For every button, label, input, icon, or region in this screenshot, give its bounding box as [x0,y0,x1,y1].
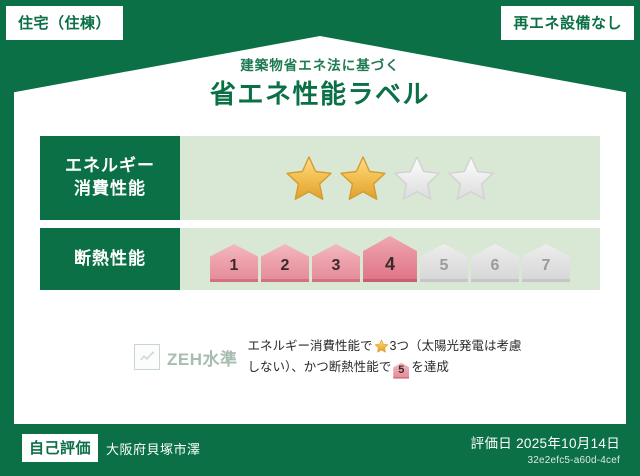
renewable-energy-badge: 再エネ設備なし [501,6,634,40]
zeh-desc-part4: を達成 [411,360,449,374]
insulation-grade-7: 7 [522,244,570,282]
energy-performance-value [180,136,600,220]
inline-star-icon [374,339,389,353]
title-subtitle: 建築物省エネ法に基づく [14,58,626,74]
star-empty-icon [446,154,496,202]
label-content-area: 建築物省エネ法に基づく 省エネ性能ラベル エネルギー 消費性能 [14,36,626,424]
title-block: 建築物省エネ法に基づく 省エネ性能ラベル [14,58,626,110]
building-type-badge: 住宅（住棟） [6,6,123,40]
inline-grade-badge: 5 [393,363,409,379]
insulation-performance-value: 1 2 3 4 5 6 7 [180,228,600,290]
zeh-desc-part2: 3つ（太陽光発電 [390,339,484,353]
zeh-badge: ZEH水準 [134,344,238,370]
star-rating [284,154,496,202]
evaluation-type-badge: 自己評価 [22,434,98,462]
insulation-grade-5: 5 [420,244,468,282]
energy-label-line1: エネルギー [65,155,155,178]
evaluation-date-label: 評価日 [471,436,512,451]
location-text: 大阪府貝塚市澤 [106,439,201,458]
evaluation-id: 32e2efc5-a60d-4cef [471,455,620,466]
zeh-label: ZEH水準 [167,345,238,370]
zeh-check-icon [134,344,160,370]
insulation-label-line1: 断熱性能 [74,248,146,271]
insulation-performance-row: 断熱性能 1 2 3 4 5 6 7 [40,228,600,290]
zeh-glyph-icon [139,350,155,364]
performance-rows: エネルギー 消費性能 [40,136,600,298]
star-filled-icon [338,154,388,202]
energy-performance-label-card: 住宅（住棟） 再エネ設備なし 建築物省エネ法に基づく 省エネ性能ラベル エネルギ… [0,0,640,476]
evaluation-date-value: 2025年10月14日 [516,436,620,451]
insulation-grade-4-achieved: 4 [363,236,417,282]
star-empty-icon [392,154,442,202]
evaluation-date: 評価日 2025年10月14日 [471,432,620,452]
footer-left-group: 自己評価 大阪府貝塚市澤 [22,434,201,462]
zeh-standard-note: ZEH水準 エネルギー消費性能で3つ（太陽光発電は考慮しない）、かつ断熱性能で5… [134,336,533,379]
energy-performance-row: エネルギー 消費性能 [40,136,600,220]
insulation-performance-label: 断熱性能 [40,228,180,290]
insulation-grade-scale: 1 2 3 4 5 6 7 [210,236,570,282]
label-footer: 自己評価 大阪府貝塚市澤 評価日 2025年10月14日 32e2efc5-a6… [0,424,640,476]
zeh-desc-part1: エネルギー消費性能で [248,339,373,353]
insulation-grade-3: 3 [312,244,360,282]
insulation-grade-6: 6 [471,244,519,282]
footer-right-group: 評価日 2025年10月14日 32e2efc5-a60d-4cef [471,432,620,466]
insulation-grade-1: 1 [210,244,258,282]
zeh-description: エネルギー消費性能で3つ（太陽光発電は考慮しない）、かつ断熱性能で5を達成 [248,336,533,379]
star-filled-icon [284,154,334,202]
insulation-grade-2: 2 [261,244,309,282]
energy-performance-label: エネルギー 消費性能 [40,136,180,220]
energy-label-line2: 消費性能 [74,178,146,201]
page-title: 省エネ性能ラベル [14,79,626,110]
